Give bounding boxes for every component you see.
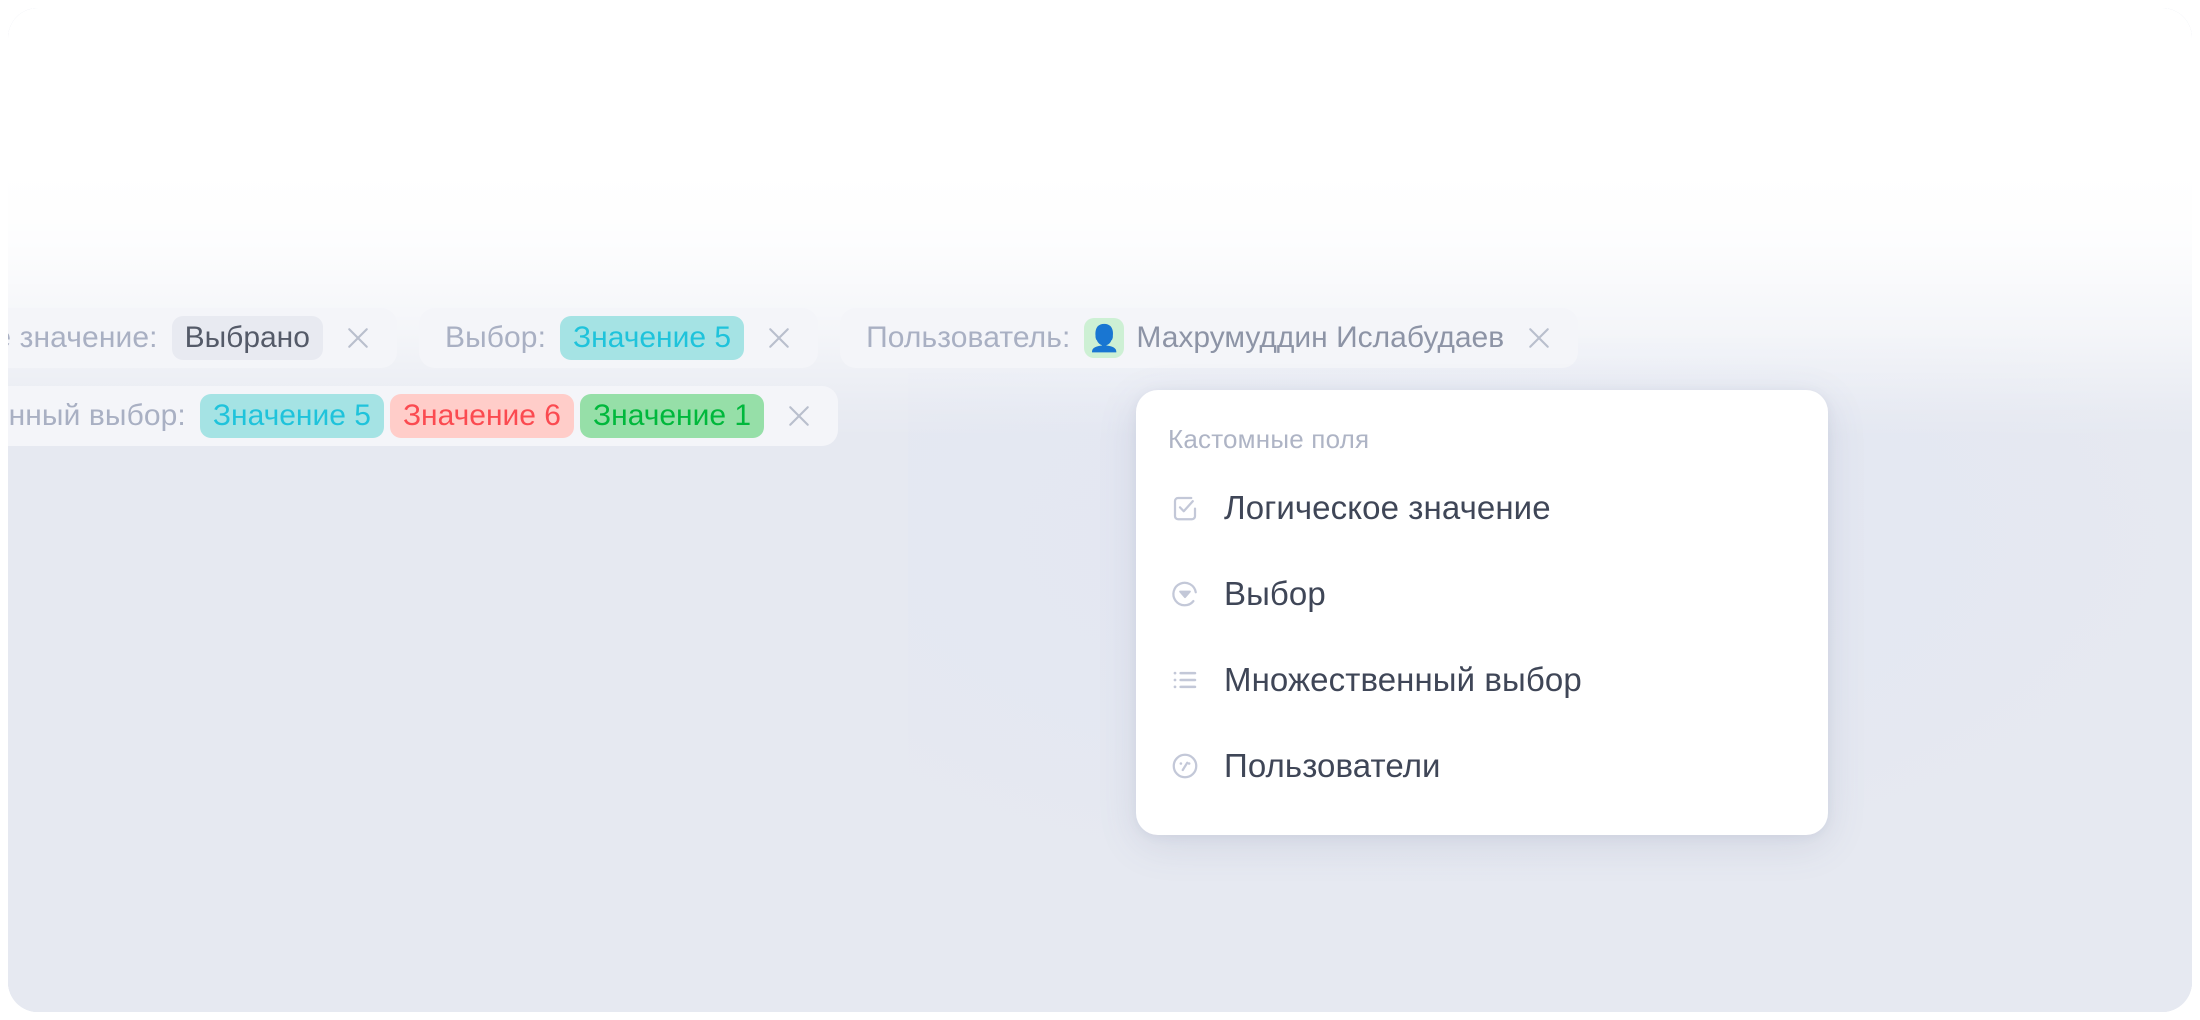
filter-chip-label: Выбор: [445, 321, 546, 355]
avatar: 👤 [1084, 318, 1124, 358]
dropdown-header: Кастомные поля [1136, 416, 1828, 465]
custom-fields-dropdown: Кастомные поля Логическое значение [1136, 390, 1828, 835]
filter-chip-label: Множественный выбор: [8, 399, 186, 433]
menu-item-boolean[interactable]: Логическое значение [1136, 465, 1828, 551]
close-icon[interactable] [341, 321, 375, 355]
menu-item-multiselect[interactable]: Множественный выбор [1136, 637, 1828, 723]
filter-row: Логическое значение: Выбрано Выбор: Знач… [8, 308, 2192, 368]
value-badge[interactable]: Значение 6 [390, 394, 574, 438]
close-icon[interactable] [1522, 321, 1556, 355]
menu-item-label: Множественный выбор [1224, 661, 1582, 699]
value-badge[interactable]: Значение 5 [200, 394, 384, 438]
bullet-list-icon [1168, 663, 1202, 697]
menu-item-label: Выбор [1224, 575, 1326, 613]
smiley-face-icon [1168, 749, 1202, 783]
menu-item-label: Пользователи [1224, 747, 1441, 785]
filter-chip-values: Выбрано [172, 316, 323, 360]
filter-chip-values: 👤 Махрумуддин Ислабудаев [1084, 316, 1504, 360]
filter-chip-label: Логическое значение: [8, 321, 158, 355]
filter-chip-values: Значение 5 [560, 316, 744, 360]
value-badge[interactable]: Значение 1 [580, 394, 764, 438]
user-name: Махрумуддин Ислабудаев [1136, 323, 1504, 353]
value-badge[interactable]: Значение 5 [560, 316, 744, 360]
filter-chip-select[interactable]: Выбор: Значение 5 [419, 308, 818, 368]
circle-caret-down-icon [1168, 577, 1202, 611]
close-icon[interactable] [762, 321, 796, 355]
filter-chip-multiselect[interactable]: Множественный выбор: Значение 5 Значение… [8, 386, 838, 446]
filter-chip-boolean[interactable]: Логическое значение: Выбрано [8, 308, 397, 368]
menu-item-users[interactable]: Пользователи [1136, 723, 1828, 809]
background-plus-layer [8, 8, 2192, 1012]
value-badge-user[interactable]: 👤 Махрумуддин Ислабудаев [1084, 316, 1504, 360]
value-badge[interactable]: Выбрано [172, 316, 323, 360]
checkbox-checked-icon [1168, 491, 1202, 525]
filter-bar: Логическое значение: Выбрано Выбор: Знач… [8, 308, 2192, 446]
scene-card: Логическое значение: Выбрано Выбор: Знач… [8, 8, 2192, 1012]
menu-item-label: Логическое значение [1224, 489, 1551, 527]
filter-chip-label: Пользователь: [866, 321, 1070, 355]
filter-chip-values: Значение 5 Значение 6 Значение 1 [200, 394, 764, 438]
filter-chip-user[interactable]: Пользователь: 👤 Махрумуддин Ислабудаев [840, 308, 1578, 368]
menu-item-select[interactable]: Выбор [1136, 551, 1828, 637]
app-root: Логическое значение: Выбрано Выбор: Знач… [0, 0, 2200, 1020]
filter-row: Множественный выбор: Значение 5 Значение… [8, 386, 2192, 446]
close-icon[interactable] [782, 399, 816, 433]
